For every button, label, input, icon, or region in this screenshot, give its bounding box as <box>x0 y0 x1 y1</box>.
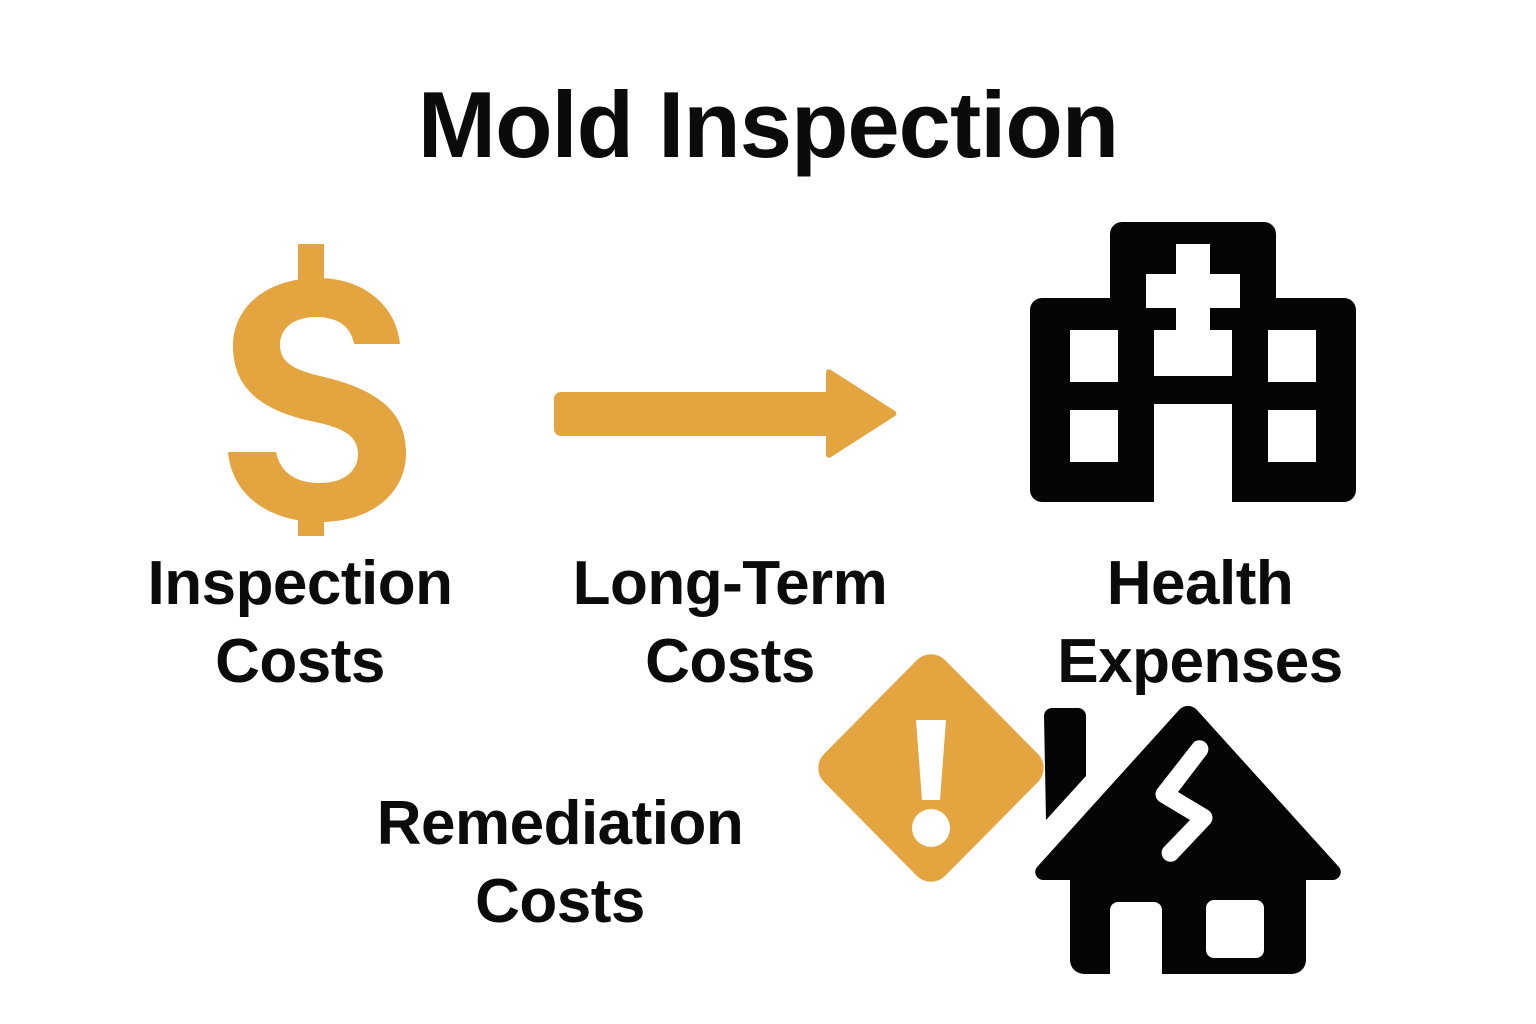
label-line-1: Long-Term <box>573 549 888 618</box>
label-line-1: Inspection <box>147 549 452 618</box>
hospital-icon <box>1018 222 1368 514</box>
label-line-1: Remediation <box>377 789 744 858</box>
label-remediation-costs: Remediation Costs <box>360 785 760 941</box>
dollar-sign-icon <box>210 240 410 540</box>
house-lightning-icon <box>1026 698 1346 980</box>
infographic-canvas: Mold Inspection Inspection Costs Long-Te… <box>0 0 1536 1024</box>
label-line-2: Expenses <box>1000 623 1400 701</box>
label-health-expenses: Health Expenses <box>1000 545 1400 701</box>
page-title: Mold Inspection <box>0 78 1536 172</box>
arrow-right-icon <box>548 368 898 460</box>
label-inspection-costs: Inspection Costs <box>100 545 500 701</box>
label-line-2: Costs <box>360 863 760 941</box>
label-line-1: Health <box>1107 549 1293 618</box>
label-line-2: Costs <box>100 623 500 701</box>
warning-diamond-icon <box>812 648 1050 888</box>
